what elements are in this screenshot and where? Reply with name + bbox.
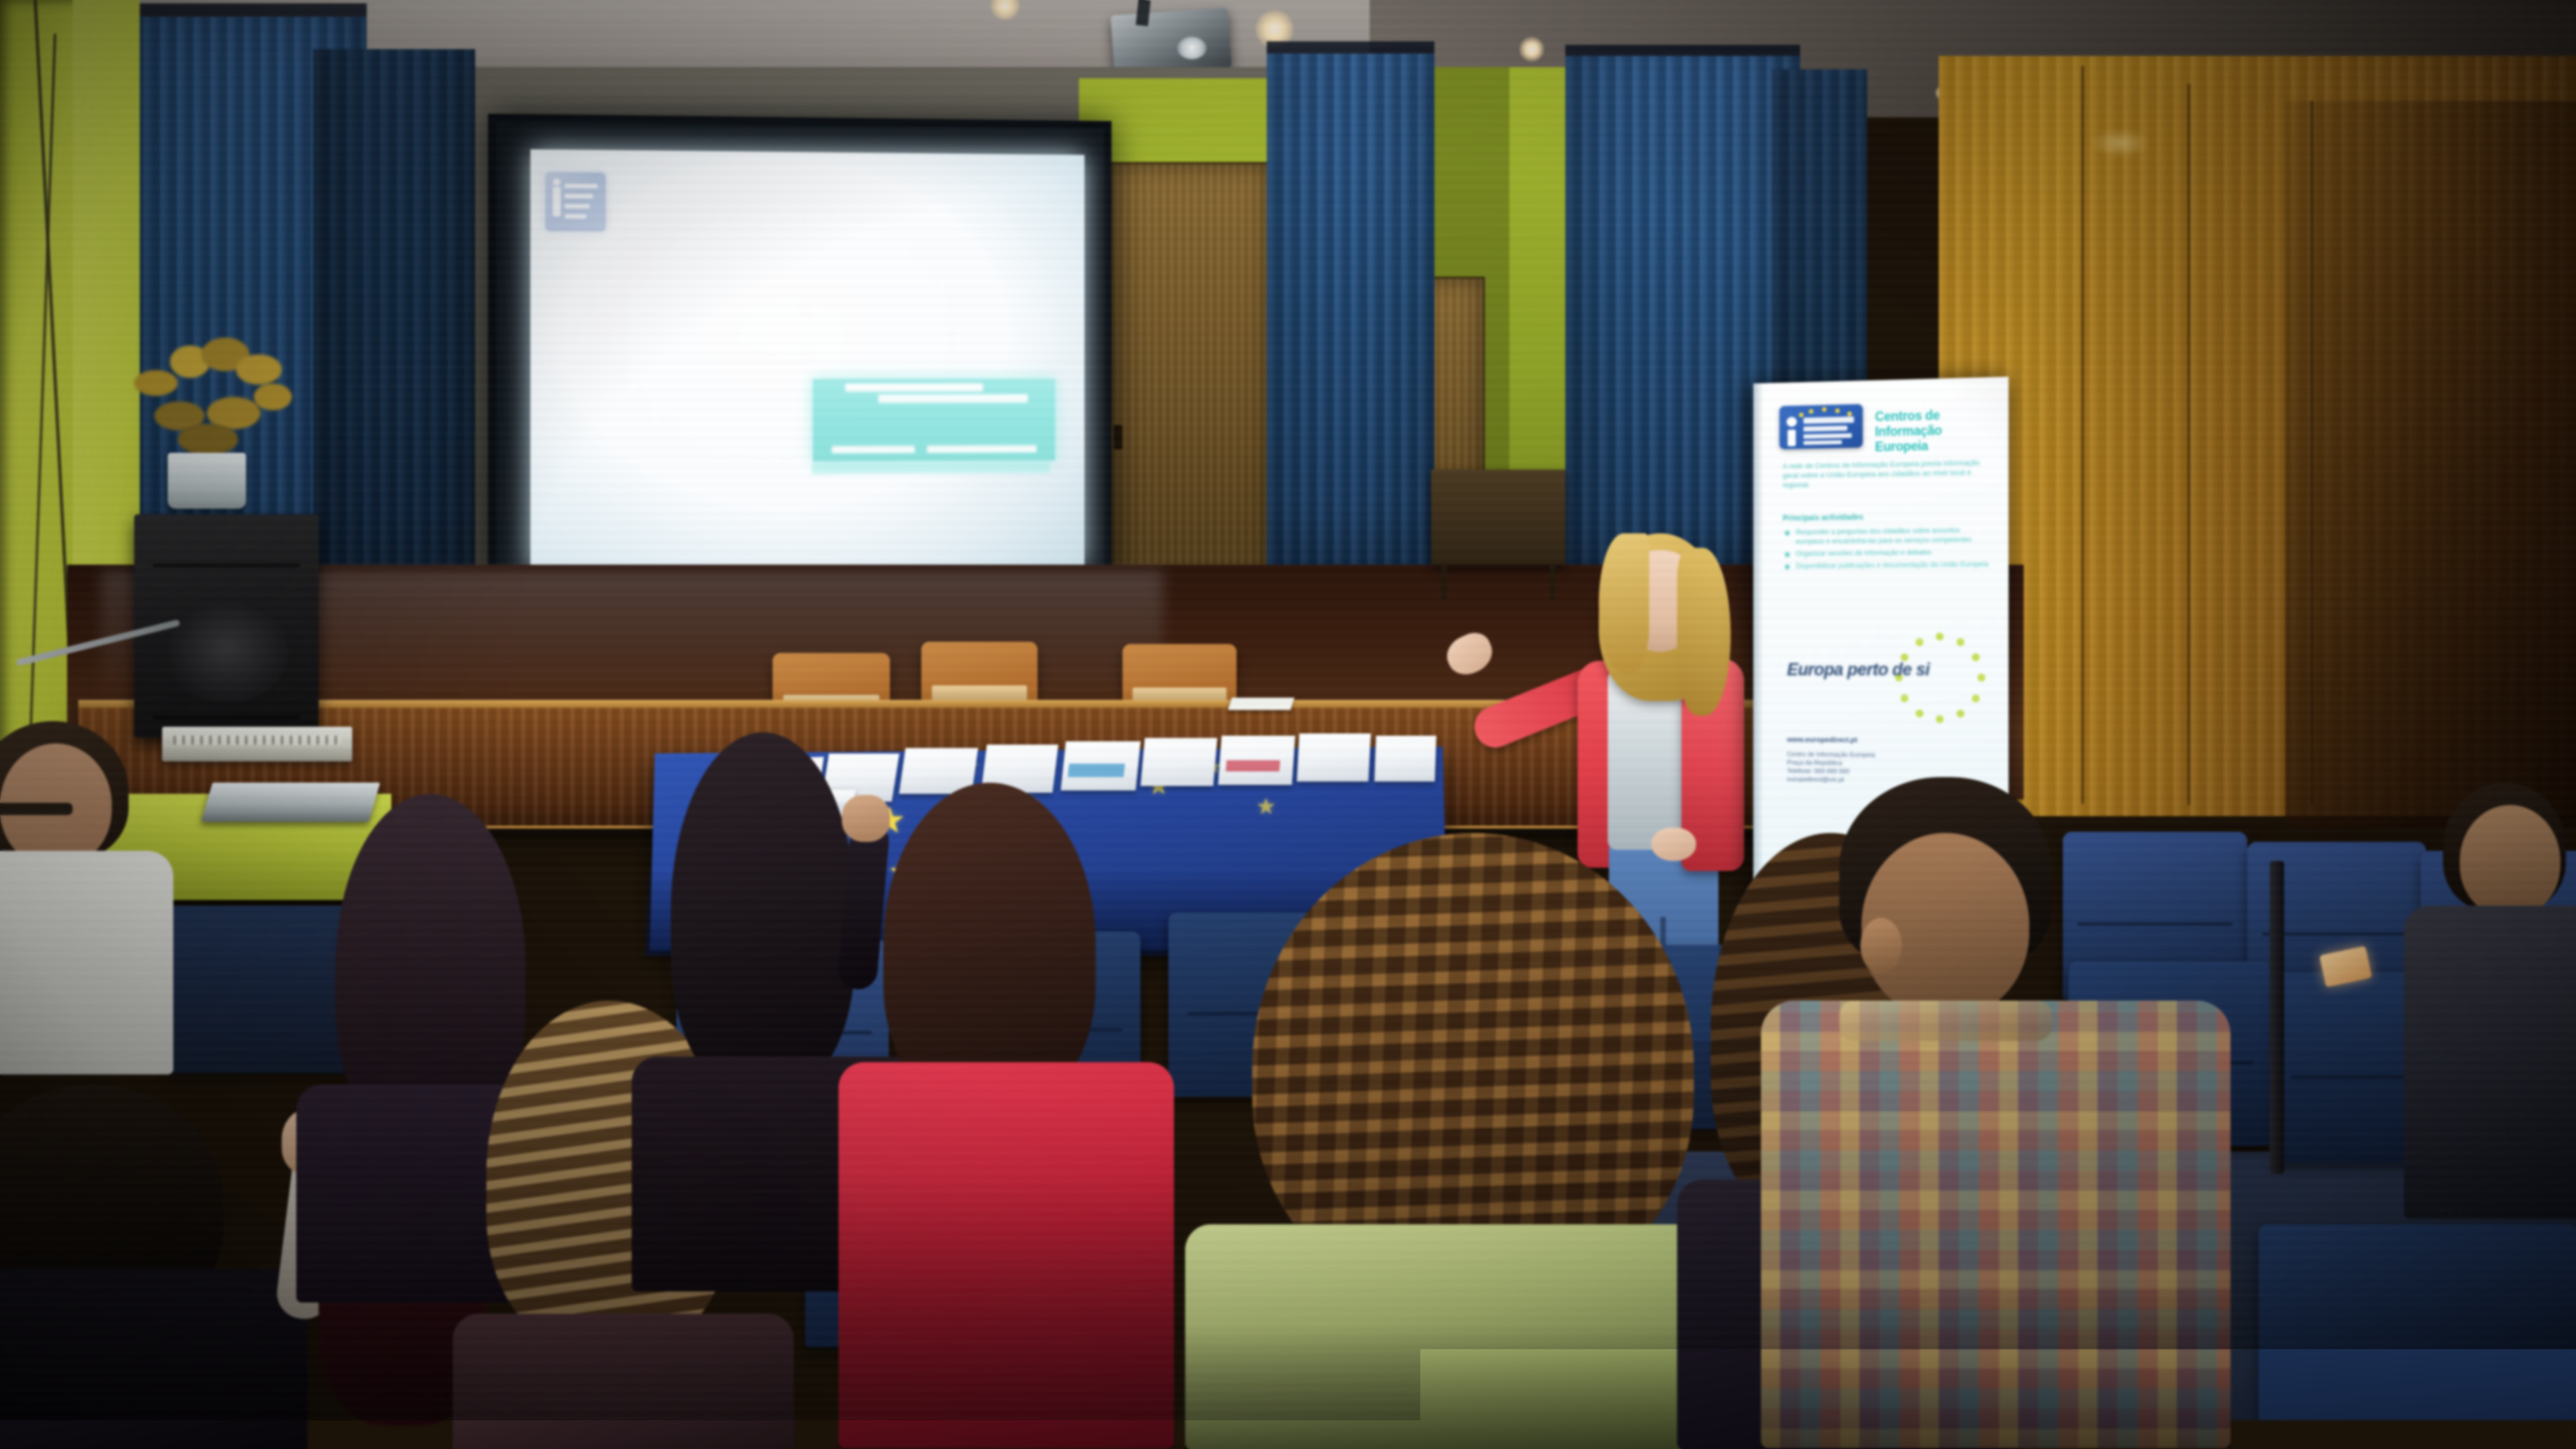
banner-activity-list: Responder a perguntas dos cidadãos sobre… [1784, 525, 1990, 574]
person-glasses-white-shirt [0, 721, 179, 1068]
person-red-top [844, 783, 1157, 1448]
slide-logo-line [565, 194, 593, 198]
projector-lens [1177, 37, 1206, 59]
leaflet[interactable] [1140, 738, 1218, 786]
eu-flag-star: ★ [1256, 794, 1276, 820]
banner-heading-line-3: Europeia [1875, 437, 1994, 454]
logo-i-dot-icon [1787, 416, 1797, 427]
curtain-left-back [313, 49, 475, 631]
person-shoulder-shadow [1185, 1325, 1733, 1449]
person-torso [0, 851, 173, 1074]
logo-word-line [1803, 425, 1848, 432]
ceiling-projector [1110, 7, 1232, 75]
slide-text-line [927, 445, 1036, 453]
person-hair [883, 783, 1096, 1107]
logo-star [1799, 413, 1803, 417]
wood-panel-seam [2310, 101, 2313, 805]
banner-url[interactable]: www.europedirect.pt [1787, 735, 1931, 745]
person-head [2460, 805, 2560, 917]
eu-star [1916, 709, 1924, 717]
leaflet-graphic [1068, 764, 1125, 777]
wood-panel-seam [2081, 66, 2084, 804]
slide-europe-direct-logo-icon [545, 172, 605, 231]
ceiling-light [1519, 37, 1544, 61]
leaflet[interactable] [1297, 733, 1371, 782]
logo-word-line [1803, 416, 1854, 424]
curtain-center [1267, 54, 1434, 618]
flower-arrangement [117, 330, 307, 470]
eu-star [1901, 694, 1909, 702]
leaflet[interactable] [1218, 736, 1295, 785]
logo-star [1822, 407, 1826, 411]
speaker-grille-line [153, 563, 300, 567]
plaid-collar [1839, 1001, 2052, 1041]
flower-petal [134, 370, 178, 396]
slide-logo-i-stem [553, 187, 561, 216]
flower-vase [168, 453, 246, 509]
slide-logo-line [565, 183, 598, 188]
person-plaid-shirt [1755, 777, 2258, 1449]
logo-star [1848, 411, 1852, 416]
projection-screen-surface [531, 149, 1085, 572]
logo-word-line [1803, 433, 1852, 439]
banner-subheading: Principais actividades [1783, 510, 1982, 522]
mic-stand-aisle[interactable] [2270, 861, 2284, 1174]
slide-teal-textblock [813, 379, 1055, 462]
person-hair [671, 732, 855, 1090]
presenter-hair-side [1677, 548, 1731, 716]
screen-glare [531, 149, 1085, 572]
eu-star [1972, 654, 1980, 661]
logo-i-stem-icon [1788, 429, 1796, 446]
wood-wall-spotlight [2090, 129, 2151, 158]
logo-word-line [1803, 440, 1842, 444]
slide-text-line [878, 394, 1027, 402]
banner-heading: Centros de Informação Europeia [1875, 406, 1994, 454]
europe-direct-logo-icon [1779, 404, 1863, 449]
logo-star [1835, 409, 1840, 413]
leaflet-graphic [1226, 760, 1280, 771]
banner-list-item: Organizar sessões de informação e debate… [1784, 547, 1990, 559]
eu-star [1977, 674, 1985, 681]
glasses-icon [0, 803, 73, 815]
slide-caption-line [812, 462, 1050, 474]
mixer-knob-row[interactable] [173, 736, 340, 745]
slide-logo-line [565, 214, 586, 219]
banner-tagline: Europa perto de si [1787, 660, 1953, 680]
slide-logo-i-dot [553, 178, 561, 186]
eu-star [1916, 638, 1924, 646]
eu-star [1936, 715, 1944, 723]
door-handle[interactable] [1114, 425, 1123, 449]
eu-star [1936, 633, 1944, 641]
banner-list-item: Disponibilizar publicações e documentaçã… [1784, 560, 1990, 571]
photo-scene: Centros de Informação Europeia A rede de… [0, 0, 2576, 1449]
presenter-hair-front [1599, 533, 1649, 673]
slide-text-line [845, 383, 983, 392]
person-ear [1860, 918, 1902, 974]
presenter-hand [1441, 627, 1499, 680]
slide-text-line [832, 446, 915, 453]
flower-petal [254, 383, 292, 410]
eu-star [1957, 638, 1964, 646]
person-shoulder-shadow [839, 1174, 1174, 1448]
speaker-woofer [164, 604, 289, 702]
person-shoulder-shadow [1761, 1280, 2231, 1448]
slide-logo-line [565, 204, 590, 209]
projection-screen [488, 113, 1112, 606]
banner-list-item: Responder a perguntas dos cidadãos sobre… [1784, 525, 1990, 547]
person-torso [453, 1314, 794, 1449]
flower-petal [178, 424, 238, 455]
stage-door[interactable] [1106, 162, 1271, 596]
person-torso [2404, 906, 2576, 1219]
banner-body-paragraph: A rede de Centros de Informação Europeia… [1783, 457, 1982, 489]
eu-star [1957, 709, 1964, 717]
leaflet[interactable] [1375, 736, 1437, 782]
logo-star [1809, 409, 1813, 414]
flower-petal [236, 354, 282, 385]
wood-panel-wall-shadow [2285, 101, 2576, 827]
eu-star [1972, 694, 1980, 702]
audio-mixer[interactable] [162, 727, 352, 761]
person-far-right-phone [2426, 783, 2576, 1286]
paper-on-stage [1228, 698, 1294, 710]
speaker-grille-line [153, 716, 300, 719]
wood-panel-seam [2187, 84, 2190, 805]
